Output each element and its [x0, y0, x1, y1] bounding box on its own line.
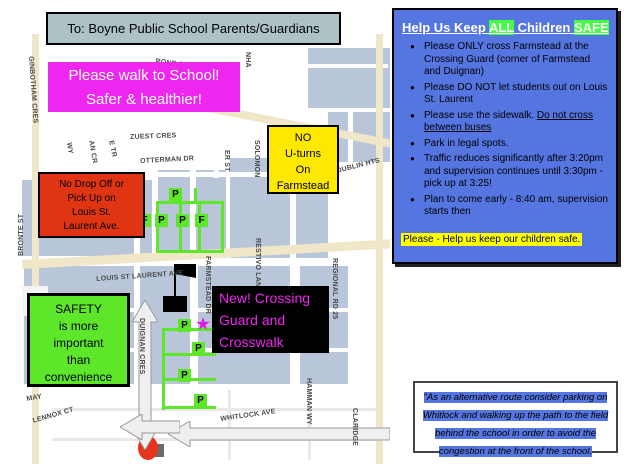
green-parking-zone	[162, 353, 216, 356]
parking-marker: P	[176, 214, 189, 227]
list-item: Plan to come early - 8:40 am, supervisio…	[424, 194, 608, 219]
callout-line: NO	[269, 130, 337, 146]
bullet-text: Traffic reduces significantly after 3:20…	[424, 153, 603, 189]
street-label: RESTIVO LANE	[254, 238, 261, 292]
street-label: REGIONAL RD 25	[331, 258, 338, 319]
list-item: Please ONLY cross Farmstead at the Cross…	[424, 41, 608, 79]
panel-heading-highlight-all: ALL	[489, 20, 514, 35]
callout-line: Guard and	[219, 309, 329, 331]
school-flag-icon	[174, 264, 176, 298]
callout-line: No Drop Off or	[40, 178, 143, 192]
bullet-text: Please use the sidewalk.	[424, 110, 537, 121]
street-label: NHA	[244, 52, 251, 68]
panel-bullet-list: Please ONLY cross Farmstead at the Cross…	[394, 41, 616, 219]
parking-marker: P	[178, 369, 191, 382]
map-major-road	[376, 34, 383, 464]
route-arrow-corner	[120, 414, 180, 440]
field-marker: F	[195, 214, 208, 227]
flyer-root: P P P F F P P P P GINBOTHAM CRES RONE CR…	[0, 0, 624, 473]
panel-heading: Help Us Keep ALL Children SAFE	[402, 20, 616, 35]
callout-line: SAFETY	[30, 301, 127, 318]
callout-line: than	[30, 352, 127, 369]
green-parking-zone	[156, 201, 224, 204]
parking-marker: P	[178, 319, 191, 332]
callout-line: Laurent Ave.	[40, 220, 143, 234]
alternative-route-note-text: "As an alternative route consider parkin…	[423, 392, 608, 457]
bullet-text: Plan to come early - 8:40 am, supervisio…	[424, 194, 608, 218]
page-title-banner: To: Boyne Public School Parents/Guardian…	[46, 12, 341, 45]
parking-marker: P	[155, 214, 168, 227]
callout-line: important	[30, 335, 127, 352]
street-label: ER ST	[223, 150, 230, 172]
green-parking-zone	[221, 201, 224, 253]
callout-line: New! Crossing	[219, 287, 329, 309]
street-label: FARMSTEAD DR	[204, 256, 211, 314]
callout-line: Crosswalk	[219, 331, 329, 353]
callout-line: Please walk to School!	[48, 64, 240, 88]
green-parking-zone	[156, 250, 224, 253]
green-parking-zone	[194, 188, 197, 202]
callout-line: Louis St.	[40, 206, 143, 220]
callout-line: On	[269, 162, 337, 178]
street-label: BRONTE ST	[18, 214, 25, 256]
school-flag-icon	[163, 296, 187, 312]
callout-line: convenience	[30, 369, 127, 386]
callout-line: Pick Up on	[40, 192, 143, 206]
street-label: WY	[65, 142, 74, 155]
list-item: Traffic reduces significantly after 3:20…	[424, 153, 608, 191]
list-item: Park in legal spots.	[424, 138, 608, 151]
panel-heading-part2: Children	[514, 20, 574, 35]
map-road	[28, 128, 198, 132]
street-label: SOLOMON	[253, 140, 260, 178]
street-label: CLARIDGE	[351, 408, 358, 446]
map-road	[52, 408, 382, 411]
callout-line: Safer & healthier!	[48, 88, 240, 112]
green-parking-zone	[179, 204, 182, 250]
alternative-route-note: "As an alternative route consider parkin…	[413, 381, 618, 453]
street-label: DUIGNAN CRES	[138, 318, 145, 374]
green-parking-zone	[162, 406, 216, 409]
list-item: Please use the sidewalk. Do not cross be…	[424, 110, 608, 135]
panel-footer-highlight: Please - Help us keep our children safe.	[401, 233, 582, 246]
parking-marker: P	[192, 342, 205, 355]
bullet-text: Please ONLY cross Farmstead at the Cross…	[424, 41, 590, 77]
bullet-text: Please DO NOT let students out on Louis …	[424, 82, 607, 106]
list-item: Please DO NOT let students out on Louis …	[424, 82, 608, 107]
callout-line: is more	[30, 318, 127, 335]
green-parking-zone	[198, 204, 201, 250]
green-parking-zone	[156, 201, 159, 253]
callout-no-uturn: NO U-turns On Farmstead	[267, 125, 339, 194]
safety-info-panel: Help Us Keep ALL Children SAFE Please ON…	[392, 8, 618, 264]
callout-walk-to-school: Please walk to School! Safer & healthier…	[48, 62, 240, 112]
parking-marker: P	[194, 394, 207, 407]
panel-heading-part1: Help Us Keep	[402, 20, 489, 35]
callout-line: U-turns	[269, 146, 337, 162]
panel-heading-highlight-safe: SAFE	[574, 20, 609, 35]
callout-line: Farmstead	[269, 178, 337, 194]
green-parking-zone	[162, 328, 165, 410]
page-title: To: Boyne Public School Parents/Guardian…	[67, 21, 319, 36]
street-label: HAMMAN WY	[305, 378, 312, 425]
bullet-text: Park in legal spots.	[424, 138, 509, 149]
callout-crossing-guard: New! Crossing Guard and Crosswalk	[212, 286, 329, 353]
callout-no-drop-off: No Drop Off or Pick Up on Louis St. Laur…	[38, 172, 145, 238]
parking-marker: P	[169, 188, 182, 201]
callout-safety: SAFETY is more important than convenienc…	[27, 293, 130, 387]
